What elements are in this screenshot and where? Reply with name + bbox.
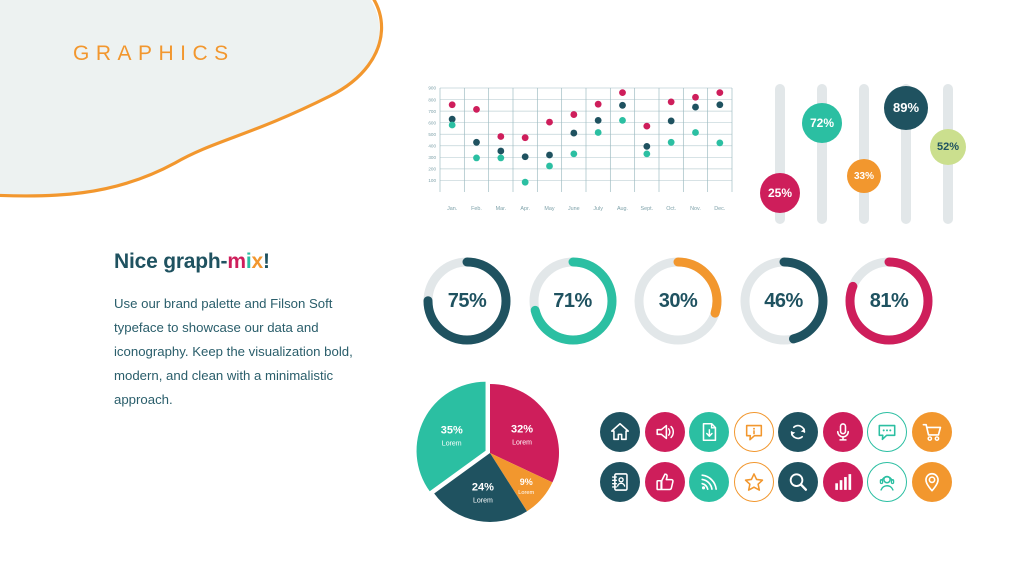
decorative-blob	[0, 0, 430, 210]
search-icon[interactable]	[778, 462, 818, 502]
wifi-signal-icon[interactable]	[689, 462, 729, 502]
pie-slice-percent: 24%	[472, 481, 494, 493]
chat-bubble-icon-glyph	[876, 421, 898, 443]
shopping-cart-icon-glyph	[921, 421, 943, 443]
donut-gauge-46: 46%	[735, 252, 833, 350]
chat-bubble-icon[interactable]	[867, 412, 907, 452]
thumbs-up-icon-glyph	[654, 471, 676, 493]
search-icon-glyph	[787, 471, 809, 493]
pie-slice-percent: 9%	[520, 477, 533, 487]
donut-gauge-group: 75%71%30%46%81%	[418, 252, 948, 360]
donut-value-label: 71%	[524, 252, 622, 350]
bar-chart-icon[interactable]	[823, 462, 863, 502]
shopping-cart-icon[interactable]	[912, 412, 952, 452]
scatter-y-tick-labels: 100200300400500600700800900	[428, 86, 436, 183]
scatter-x-tick-labels: Jan.Feb.Mar.Apr.MayJuneJulyAug.Sept.Oct.…	[447, 206, 725, 212]
svg-text:400: 400	[428, 143, 436, 148]
svg-text:300: 300	[428, 155, 436, 160]
map-pin-icon-glyph	[921, 471, 943, 493]
scatter-chart: 100200300400500600700800900 Jan.Feb.Mar.…	[418, 82, 736, 224]
pie-slice-sublabel: Lorem	[473, 497, 493, 504]
support-agent-icon-glyph	[876, 471, 898, 493]
address-book-icon[interactable]	[600, 462, 640, 502]
headline: Nice graph-mix!	[114, 250, 379, 274]
svg-text:500: 500	[428, 132, 436, 137]
map-pin-icon[interactable]	[912, 462, 952, 502]
slider-value-bubble[interactable]: 52%	[930, 129, 966, 165]
icon-grid	[600, 412, 956, 512]
donut-value-label: 30%	[629, 252, 727, 350]
slider-1[interactable]: 25%	[762, 84, 798, 224]
slider-5[interactable]: 52%	[930, 84, 966, 224]
megaphone-icon-glyph	[654, 421, 676, 443]
slider-4[interactable]: 89%	[888, 84, 924, 224]
slider-2[interactable]: 72%	[804, 84, 840, 224]
star-icon[interactable]	[734, 462, 774, 502]
pie-slice-sublabel: Lorem	[442, 441, 462, 448]
megaphone-icon[interactable]	[645, 412, 685, 452]
donut-gauge-30: 30%	[629, 252, 727, 350]
slider-group: 25%72%33%89%52%	[762, 84, 962, 224]
scatter-gridlines	[440, 88, 732, 192]
bar-chart-icon-glyph	[832, 471, 854, 493]
svg-text:Apr.: Apr.	[520, 206, 530, 212]
slider-track	[859, 84, 869, 224]
star-icon-glyph	[743, 471, 765, 493]
svg-text:June: June	[568, 206, 580, 212]
pie-chart: 32%Lorem9%Lorem24%Lorem35%Lorem	[402, 377, 582, 532]
svg-text:200: 200	[428, 167, 436, 172]
support-agent-icon[interactable]	[867, 462, 907, 502]
info-bubble-icon-glyph	[743, 421, 765, 443]
slider-value-bubble[interactable]: 33%	[847, 159, 881, 193]
refresh-icon[interactable]	[778, 412, 818, 452]
headline-exclamation: !	[263, 250, 270, 273]
svg-text:May: May	[544, 206, 554, 212]
svg-text:Aug.: Aug.	[617, 206, 628, 212]
donut-gauge-71: 71%	[524, 252, 622, 350]
file-download-icon[interactable]	[689, 412, 729, 452]
pie-slice-sublabel: Lorem	[518, 490, 534, 496]
pie-slice-percent: 35%	[441, 425, 463, 437]
svg-text:Dec.: Dec.	[714, 206, 725, 212]
slide-canvas: GRAPHICS Nice graph-mix! Use our brand p…	[0, 0, 1024, 576]
donut-gauge-75: 75%	[418, 252, 516, 350]
svg-text:Oct.: Oct.	[666, 206, 676, 212]
headline-letter-x: x	[251, 250, 262, 273]
svg-text:600: 600	[428, 120, 436, 125]
slider-value-bubble[interactable]: 25%	[760, 173, 800, 213]
microphone-icon[interactable]	[823, 412, 863, 452]
slider-value-bubble[interactable]: 89%	[884, 86, 928, 130]
wifi-signal-icon-glyph	[698, 471, 720, 493]
headline-letter-m: m	[227, 250, 245, 273]
info-bubble-icon[interactable]	[734, 412, 774, 452]
svg-text:Nov.: Nov.	[690, 206, 701, 212]
pie-slice-sublabel: Lorem	[512, 440, 532, 447]
svg-text:100: 100	[428, 178, 436, 183]
svg-text:700: 700	[428, 109, 436, 114]
headline-prefix: Nice graph-	[114, 250, 227, 273]
home-icon[interactable]	[600, 412, 640, 452]
donut-value-label: 75%	[418, 252, 516, 350]
svg-text:Feb.: Feb.	[471, 206, 482, 212]
svg-text:800: 800	[428, 97, 436, 102]
svg-text:July: July	[593, 206, 603, 212]
donut-value-label: 46%	[735, 252, 833, 350]
address-book-icon-glyph	[609, 471, 631, 493]
slider-3[interactable]: 33%	[846, 84, 882, 224]
file-download-icon-glyph	[698, 421, 720, 443]
svg-text:Sept.: Sept.	[641, 206, 654, 212]
donut-gauge-81: 81%	[840, 252, 938, 350]
svg-text:Mar.: Mar.	[496, 206, 506, 212]
slider-value-bubble[interactable]: 72%	[802, 103, 842, 143]
page-title: GRAPHICS	[73, 42, 235, 66]
pie-slice-percent: 32%	[511, 424, 533, 436]
home-icon-glyph	[609, 421, 631, 443]
microphone-icon-glyph	[832, 421, 854, 443]
copy-block: Nice graph-mix! Use our brand palette an…	[114, 250, 379, 412]
refresh-icon-glyph	[787, 421, 809, 443]
svg-text:900: 900	[428, 86, 436, 91]
svg-text:Jan.: Jan.	[447, 206, 457, 212]
donut-value-label: 81%	[840, 252, 938, 350]
body-paragraph: Use our brand palette and Filson Soft ty…	[114, 292, 379, 412]
thumbs-up-icon[interactable]	[645, 462, 685, 502]
